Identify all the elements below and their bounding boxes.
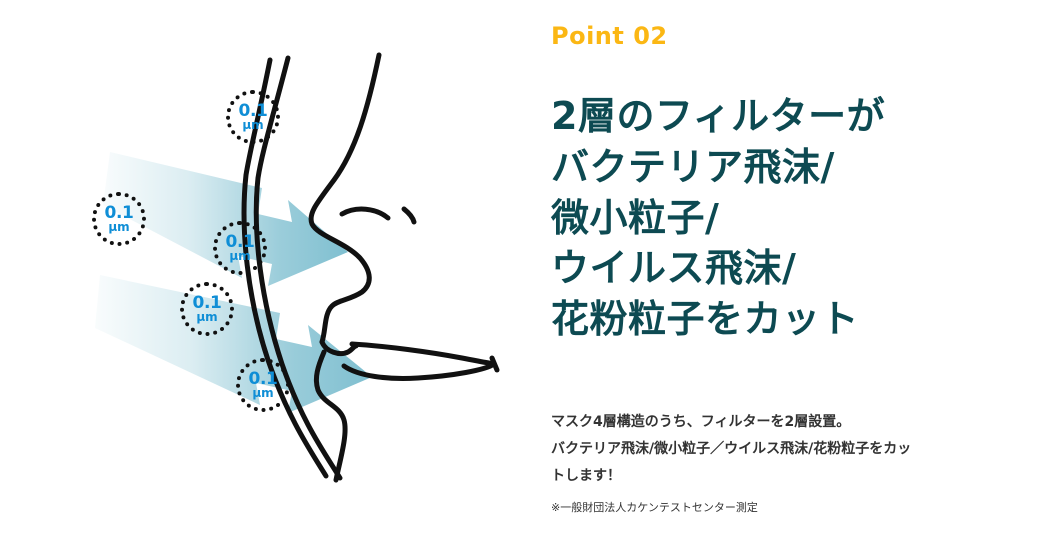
description-text: マスク4層構造のうち、フィルターを2層設置。 バクテリア飛沫/微小粒子／ウイルス… xyxy=(551,409,981,490)
mask-filtration-illustration: 0.1 μm 0.1 μm 0.1 μm 0.1 μm 0.1 μm xyxy=(0,0,540,546)
particle-badge: 0.1 μm xyxy=(92,192,146,246)
particle-unit: μm xyxy=(242,119,263,131)
illustration-svg xyxy=(0,0,540,546)
footnote-text: ※一般財団法人カケンテストセンター測定 xyxy=(551,501,758,514)
headline-line: 花粉粒子をカット xyxy=(551,294,1021,345)
face-profile-outline xyxy=(311,55,379,480)
particle-badge: 0.1 μm xyxy=(180,282,234,336)
particle-badge: 0.1 μm xyxy=(236,358,290,412)
point-label: Point 02 xyxy=(551,22,668,50)
lower-airflow-arrow xyxy=(95,275,372,413)
eye-outline xyxy=(342,209,414,222)
particle-unit: μm xyxy=(229,250,250,262)
description-line: マスク4層構造のうち、フィルターを2層設置。 xyxy=(551,409,981,436)
headline-line: 微小粒子/ xyxy=(551,193,1021,244)
headline-line: 2層のフィルターが xyxy=(551,91,1021,142)
lips-shape xyxy=(344,344,497,379)
particle-unit: μm xyxy=(252,387,273,399)
particle-badge: 0.1 μm xyxy=(226,90,280,144)
description-line: バクテリア飛沫/微小粒子／ウイルス飛沫/花粉粒子をカッ xyxy=(551,436,981,463)
page-title: 2層のフィルターが バクテリア飛沫/ 微小粒子/ ウイルス飛沫/ 花粉粒子をカッ… xyxy=(551,91,1021,344)
headline-line: バクテリア飛沫/ xyxy=(551,142,1021,193)
headline-line: ウイルス飛沫/ xyxy=(551,243,1021,294)
particle-unit: μm xyxy=(108,221,129,233)
feature-text-column: Point 02 2層のフィルターが バクテリア飛沫/ 微小粒子/ ウイルス飛沫… xyxy=(551,0,1021,546)
point-02-feature-panel: 0.1 μm 0.1 μm 0.1 μm 0.1 μm 0.1 μm Point… xyxy=(0,0,1040,546)
particle-badge: 0.1 μm xyxy=(213,221,267,275)
particle-unit: μm xyxy=(196,311,217,323)
description-line: トします！ xyxy=(551,463,981,490)
